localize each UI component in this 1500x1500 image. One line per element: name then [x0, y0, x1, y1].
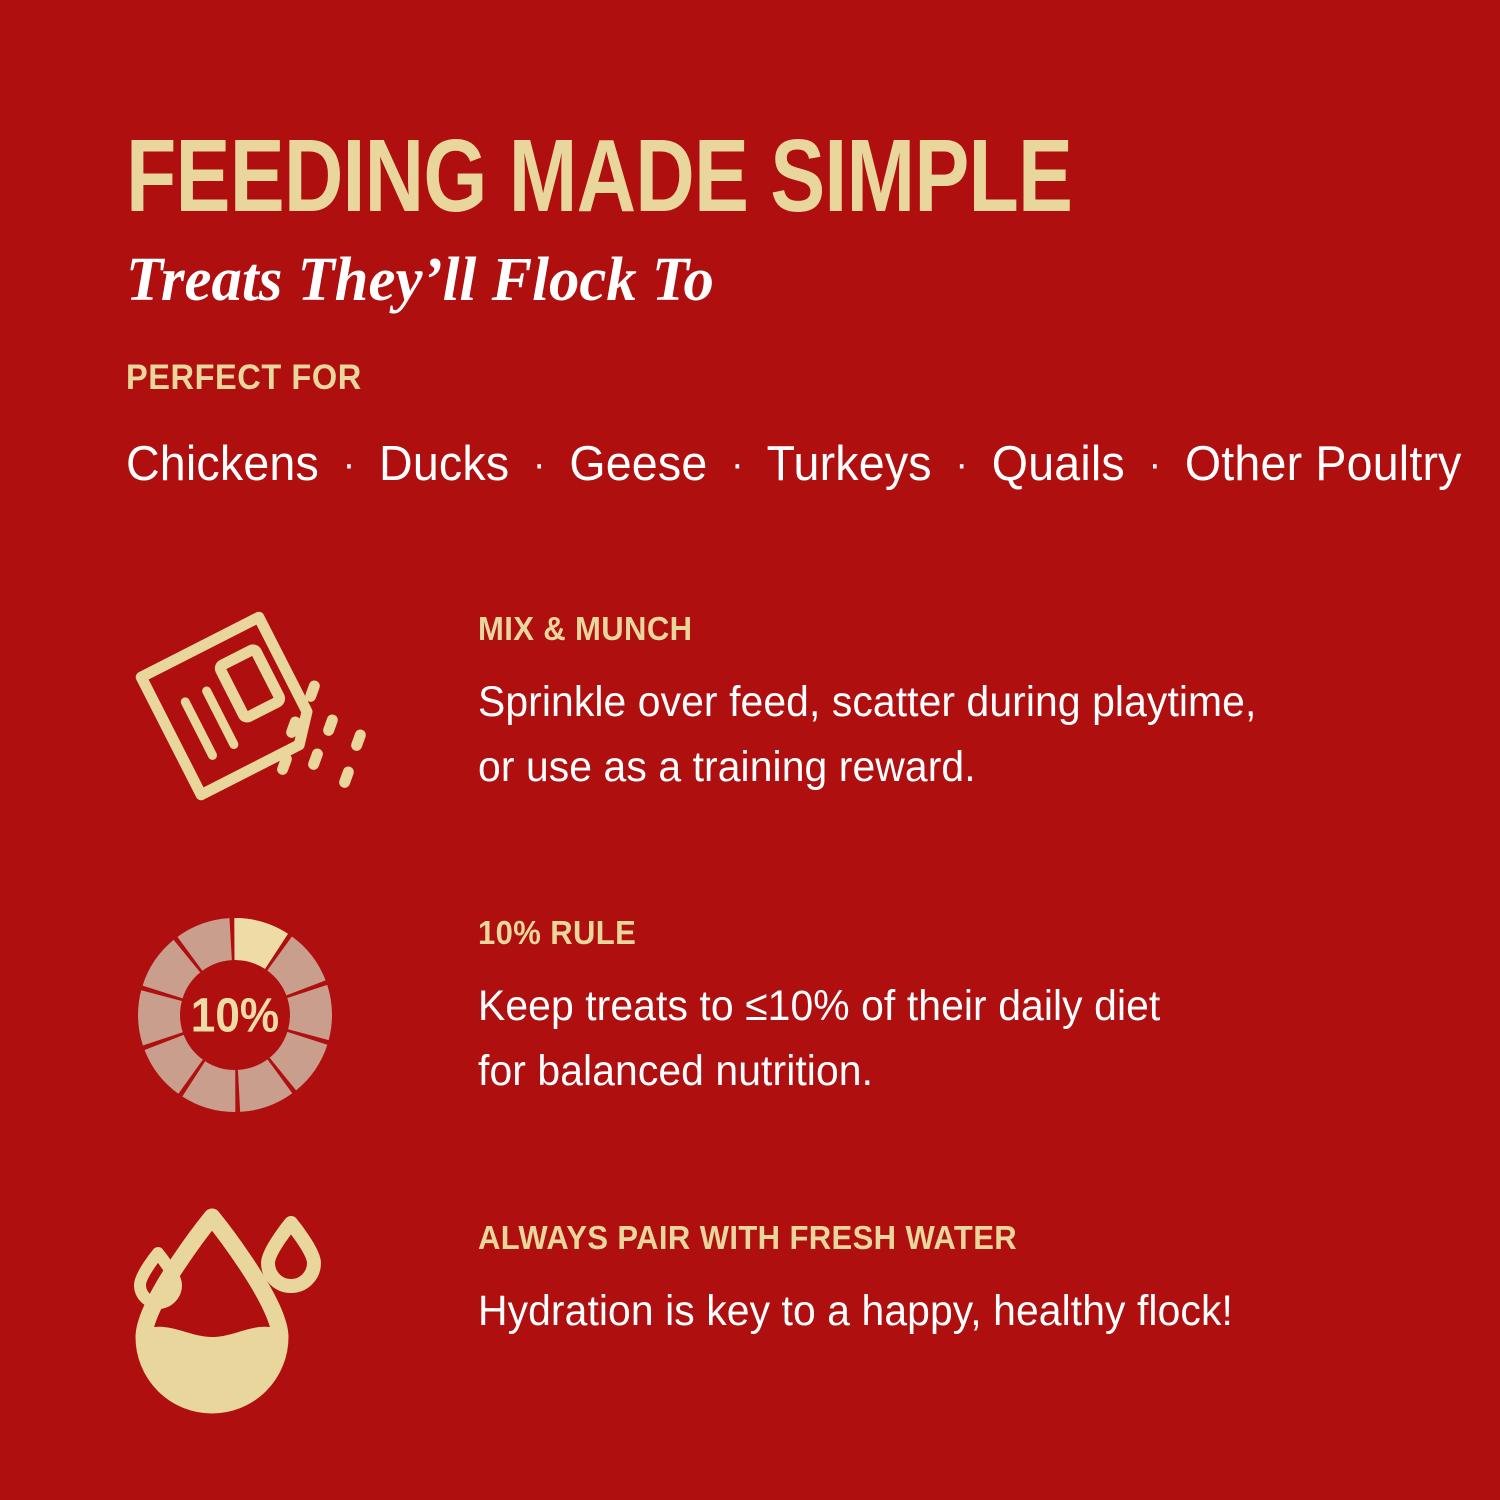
animal-item: Quails	[992, 437, 1125, 491]
water-drop-icon	[120, 1205, 350, 1415]
feature-icon-cell	[120, 1205, 478, 1435]
small-droplet-right-icon	[268, 1223, 314, 1286]
perfect-for-label: PERFECT FOR	[126, 358, 1335, 398]
feature-body: Hydration is key to a happy, healthy flo…	[478, 1257, 1373, 1344]
list-separator-dot: ·	[945, 442, 979, 486]
animal-item: Ducks	[379, 437, 509, 491]
page-subtitle: Treats They’ll Flock To	[126, 227, 1380, 311]
animal-item: Geese	[569, 437, 707, 491]
ten-percent-ring-icon: 10%	[120, 900, 350, 1130]
feature-title: 10% RULE	[478, 914, 1363, 952]
drop-liquid	[138, 1327, 286, 1415]
animal-item: Other Poultry	[1185, 437, 1462, 491]
perfect-for-animal-list: Chickens · Ducks · Geese · Turkeys · Qua…	[126, 398, 1361, 492]
animal-item: Turkeys	[767, 437, 932, 491]
feature-body: Keep treats to ≤10% of their daily diet …	[478, 952, 1373, 1105]
feature-title: ALWAYS PAIR WITH FRESH WATER	[478, 1219, 1363, 1257]
page-title: FEEDING MADE SIMPLE	[126, 126, 1150, 227]
feature-row-fresh-water: ALWAYS PAIR WITH FRESH WATER Hydration i…	[120, 1205, 1420, 1435]
feature-title: MIX & MUNCH	[478, 610, 1363, 648]
feature-text-cell: MIX & MUNCH Sprinkle over feed, scatter …	[478, 596, 1420, 801]
header: FEEDING MADE SIMPLE Treats They’ll Flock…	[126, 126, 1406, 311]
list-separator-dot: ·	[1138, 442, 1172, 486]
feature-icon-cell: 10%	[120, 900, 478, 1130]
feature-row-ten-percent-rule: 10% 10% RULE Keep treats to ≤10% of thei…	[120, 900, 1420, 1130]
feature-body: Sprinkle over feed, scatter during playt…	[478, 648, 1373, 801]
feature-text-cell: 10% RULE Keep treats to ≤10% of their da…	[478, 900, 1420, 1105]
perfect-for-section: PERFECT FOR Chickens · Ducks · Geese · T…	[126, 358, 1426, 492]
list-separator-dot: ·	[721, 442, 755, 486]
feature-icon-cell	[120, 596, 478, 826]
list-separator-dot: ·	[332, 442, 366, 486]
feature-row-mix-and-munch: MIX & MUNCH Sprinkle over feed, scatter …	[120, 596, 1420, 826]
sprinkle-packet-icon	[120, 596, 440, 826]
list-separator-dot: ·	[522, 442, 556, 486]
animal-item: Chickens	[126, 437, 319, 491]
ring-label: 10%	[191, 988, 279, 1042]
feature-text-cell: ALWAYS PAIR WITH FRESH WATER Hydration i…	[478, 1205, 1420, 1344]
